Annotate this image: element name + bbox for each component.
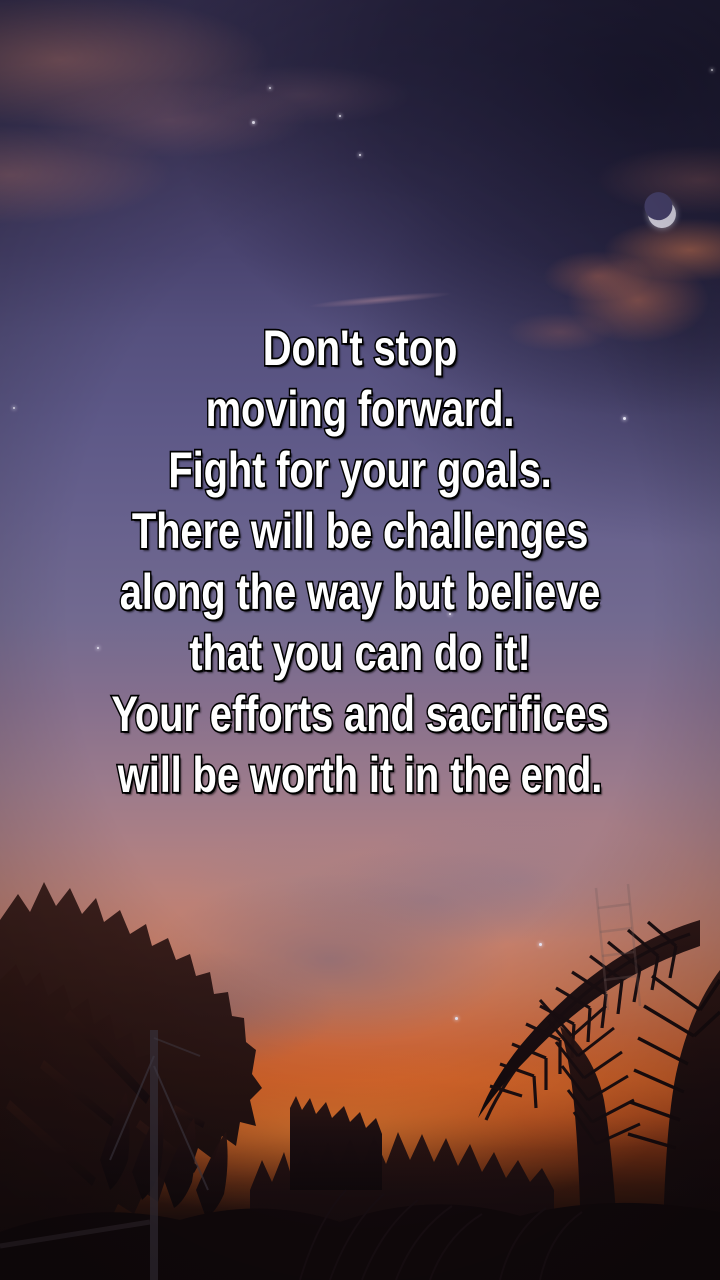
quote-line: moving forward.: [72, 379, 648, 440]
quote-line: Fight for your goals.: [72, 440, 648, 501]
left-tree: [0, 882, 262, 1264]
star-icon: [252, 121, 255, 124]
foliage-silhouette: [0, 860, 720, 1280]
quote-line: will be worth it in the end.: [72, 745, 648, 806]
quote-line: along the way but believe: [72, 562, 648, 623]
quote-line: There will be challenges: [72, 501, 648, 562]
quote-line: that you can do it!: [72, 623, 648, 684]
star-icon: [359, 154, 361, 156]
cloud-streak: [280, 283, 481, 316]
quote-text-block: Don't stopmoving forward.Fight for your …: [0, 318, 720, 806]
star-icon: [711, 69, 713, 71]
crescent-moon-icon: [643, 195, 681, 233]
quote-line: Don't stop: [72, 318, 648, 379]
quote-line: Your efforts and sacrifices: [72, 684, 648, 745]
quote-wallpaper: Don't stopmoving forward.Fight for your …: [0, 0, 720, 1280]
star-icon: [339, 115, 341, 117]
star-icon: [269, 87, 271, 89]
